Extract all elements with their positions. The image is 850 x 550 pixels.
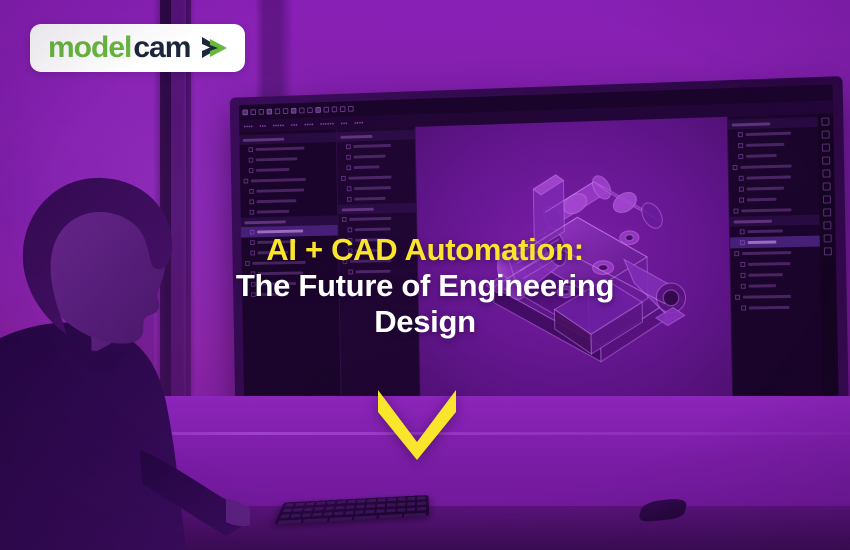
keyboard-key[interactable] [418, 507, 426, 511]
menu-item[interactable]: ●●●● [244, 124, 253, 129]
node-icon [733, 165, 738, 170]
node-icon [738, 132, 743, 137]
keyboard-key[interactable] [280, 514, 290, 518]
rail-tool-icon[interactable] [821, 118, 829, 126]
keyboard-key[interactable] [387, 503, 395, 506]
pattern-tool-icon[interactable] [307, 107, 313, 113]
line-tool-icon[interactable] [250, 109, 255, 115]
keyboard-key[interactable] [367, 499, 376, 502]
keyboard-key[interactable] [314, 507, 323, 511]
item-label [257, 199, 297, 203]
node-icon [249, 199, 254, 204]
item-label [354, 186, 391, 190]
item-label [746, 132, 791, 136]
section-tool-icon[interactable] [340, 106, 346, 112]
menu-item[interactable]: ●●●● [304, 122, 314, 127]
keyboard-key[interactable] [304, 508, 314, 512]
item-label [256, 147, 305, 151]
item-label [256, 189, 304, 193]
person-silhouette [0, 150, 250, 550]
item-label [349, 217, 391, 221]
item-label [740, 164, 791, 168]
rail-tool-icon[interactable] [822, 143, 830, 151]
brand-logo[interactable]: model cam [30, 24, 245, 72]
keyboard-key[interactable] [326, 501, 335, 504]
section-label [244, 220, 286, 224]
keyboard-key[interactable] [283, 509, 293, 513]
measure-tool-icon[interactable] [332, 106, 338, 112]
node-icon [347, 197, 352, 202]
keyboard-key[interactable] [408, 497, 416, 500]
keyboard-key[interactable] [323, 512, 332, 516]
section-label [734, 219, 772, 223]
logo-text-cam: cam [133, 33, 190, 63]
keyboard-key[interactable] [355, 510, 364, 514]
extrude-tool-icon[interactable] [267, 109, 272, 115]
cursor-tool-icon[interactable] [242, 109, 247, 115]
keyboard-key[interactable] [354, 515, 377, 520]
item-label [746, 154, 776, 158]
keyboard-key[interactable] [379, 514, 402, 519]
keyboard-key[interactable] [337, 500, 346, 503]
keyboard-key[interactable] [285, 503, 295, 506]
item-label [353, 144, 391, 148]
keyboard-key[interactable] [344, 511, 353, 515]
logo-text-model: model [48, 33, 131, 63]
rail-tool-icon[interactable] [823, 182, 831, 190]
section-label [340, 134, 372, 138]
chevron-right-arrow-icon [199, 35, 229, 61]
node-icon [346, 165, 351, 170]
item-label [747, 198, 777, 202]
keyboard-key[interactable] [386, 509, 395, 513]
render-tool-icon[interactable] [348, 106, 354, 112]
item-label [354, 155, 386, 159]
headline-line-1: AI + CAD Automation: [90, 232, 760, 268]
section-label [342, 207, 374, 211]
hero-banner: ●●●● ●●● ●●●●● ●●● ●●●● ●●●●●● ●●● ●●●● [0, 0, 850, 550]
keyboard-key[interactable] [377, 498, 385, 501]
keyboard-key[interactable] [303, 518, 327, 523]
item-label [257, 210, 289, 214]
keyboard-key[interactable] [418, 496, 426, 499]
item-label [354, 165, 380, 169]
node-icon [341, 176, 346, 181]
chevron-down-icon[interactable] [374, 386, 460, 460]
keyboard-key[interactable] [312, 513, 322, 517]
node-icon [738, 154, 743, 159]
mirror-tool-icon[interactable] [315, 107, 321, 113]
rail-tool-icon[interactable] [823, 208, 831, 216]
node-icon [739, 198, 744, 203]
rail-tool-icon[interactable] [822, 169, 830, 177]
keyboard-key[interactable] [278, 520, 303, 525]
keyboard-key[interactable] [329, 517, 353, 522]
rail-tool-icon[interactable] [822, 156, 830, 164]
keyboard-key[interactable] [397, 503, 405, 506]
keyboard-key[interactable] [418, 502, 426, 505]
keyboard-key[interactable] [293, 508, 303, 512]
keyboard-key[interactable] [366, 504, 375, 508]
keyboard-key[interactable] [398, 497, 406, 500]
item-label [741, 208, 791, 212]
keyboard-key[interactable] [347, 500, 356, 503]
item-label [256, 157, 297, 161]
menu-item[interactable]: ●●● [291, 122, 298, 127]
keyboard-key[interactable] [334, 512, 343, 516]
section-label [732, 122, 770, 126]
node-icon [250, 210, 255, 215]
item-label [747, 187, 784, 191]
rail-tool-icon[interactable] [823, 221, 831, 229]
section-label [243, 137, 285, 141]
keyboard-key[interactable] [407, 508, 415, 512]
keyboard-key[interactable] [377, 504, 386, 507]
menu-item[interactable]: ●●●● [354, 120, 364, 125]
rail-tool-icon[interactable] [823, 195, 831, 203]
keyboard-key[interactable] [404, 513, 427, 517]
keyboard-key[interactable] [407, 502, 415, 505]
shell-tool-icon[interactable] [299, 108, 305, 114]
node-icon [738, 143, 743, 148]
headline-block: AI + CAD Automation: The Future of Engin… [0, 232, 850, 340]
keyboard-key[interactable] [306, 502, 315, 505]
keyboard-key[interactable] [302, 513, 312, 517]
keyboard-key[interactable] [376, 509, 385, 513]
item-label [746, 143, 784, 147]
fillet-tool-icon[interactable] [283, 108, 289, 114]
keyboard-key[interactable] [365, 510, 374, 514]
keyboard-key[interactable] [316, 502, 325, 505]
revolve-tool-icon[interactable] [275, 108, 281, 114]
item-label [251, 178, 306, 182]
rail-tool-icon[interactable] [822, 130, 830, 138]
node-icon [342, 217, 347, 222]
keyboard-key[interactable] [357, 499, 366, 502]
node-icon [739, 176, 744, 181]
node-icon [346, 144, 351, 149]
keyboard-key[interactable] [295, 503, 304, 506]
item-label [354, 197, 385, 201]
assemble-tool-icon[interactable] [324, 107, 330, 113]
circle-tool-icon[interactable] [259, 109, 264, 115]
keyboard-key[interactable] [325, 506, 334, 510]
menu-item[interactable]: ●●●●● [273, 123, 285, 128]
node-icon [347, 186, 352, 191]
keyboard-key[interactable] [356, 505, 365, 509]
node-icon [346, 155, 351, 160]
node-icon [733, 209, 738, 214]
keyboard-key[interactable] [397, 508, 406, 512]
menu-item[interactable]: ●●●●●● [320, 121, 334, 126]
node-icon [739, 187, 744, 192]
keyboard-key[interactable] [388, 498, 396, 501]
chamfer-tool-icon[interactable] [291, 108, 297, 114]
item-label [747, 175, 791, 179]
headline-line-2: The Future of Engineering [90, 268, 760, 304]
keyboard-key[interactable] [346, 505, 355, 509]
item-label [348, 176, 391, 180]
keyboard-key[interactable] [291, 514, 301, 518]
item-label [256, 168, 289, 172]
item-label [355, 228, 391, 232]
menu-item[interactable]: ●●● [259, 123, 266, 128]
headline-line-3: Design [90, 304, 760, 340]
keyboard-key[interactable] [335, 506, 344, 510]
menu-item[interactable]: ●●● [341, 120, 348, 125]
